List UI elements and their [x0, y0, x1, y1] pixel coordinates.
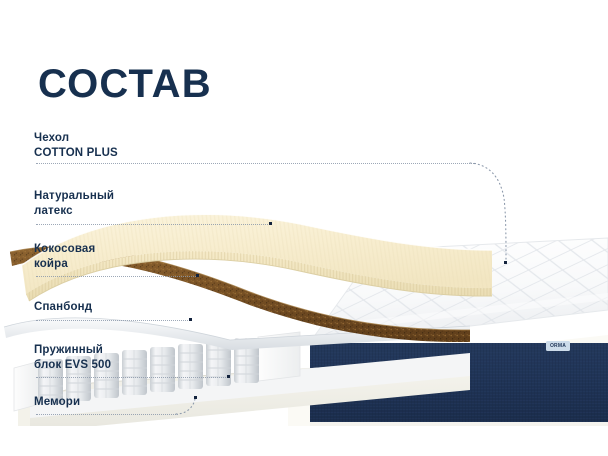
leader-line-latex — [36, 224, 270, 226]
leader-endpoint-coir — [196, 274, 199, 277]
leader-line-cover — [36, 163, 476, 165]
composition-infographic: СОСТАВ — [0, 0, 608, 456]
leader-line-spring-block — [36, 377, 226, 379]
leader-endpoint-memory — [194, 396, 197, 399]
leader-endpoint-cover — [504, 261, 507, 264]
legend-label-memory: Мемори — [34, 395, 194, 410]
legend-label-cover: Чехол COTTON PLUS — [34, 131, 194, 160]
legend-label-latex: Натуральный латекс — [34, 189, 194, 218]
legend-item-coir[interactable]: Кокосовая койра — [34, 242, 194, 271]
brand-badge-label: ORMA — [550, 343, 566, 349]
leader-line-memory — [36, 414, 178, 416]
legend-item-memory[interactable]: Мемори — [34, 395, 194, 410]
leader-endpoint-spunbond — [189, 318, 192, 321]
legend-label-coir: Кокосовая койра — [34, 242, 194, 271]
legend-item-spring-block[interactable]: Пружинный блок EVS 500 — [34, 343, 194, 372]
legend-label-spunbond: Спанбонд — [34, 300, 194, 315]
leader-line-spunbond — [36, 320, 188, 322]
brand-badge: ORMA — [546, 341, 570, 351]
leader-endpoint-latex — [269, 222, 272, 225]
legend-item-cover[interactable]: Чехол COTTON PLUS — [34, 131, 194, 160]
leader-line-coir — [36, 276, 196, 278]
legend-item-spunbond[interactable]: Спанбонд — [34, 300, 194, 315]
leader-endpoint-spring-block — [227, 375, 230, 378]
legend-item-latex[interactable]: Натуральный латекс — [34, 189, 194, 218]
page-title: СОСТАВ — [38, 64, 212, 104]
legend-label-spring-block: Пружинный блок EVS 500 — [34, 343, 194, 372]
